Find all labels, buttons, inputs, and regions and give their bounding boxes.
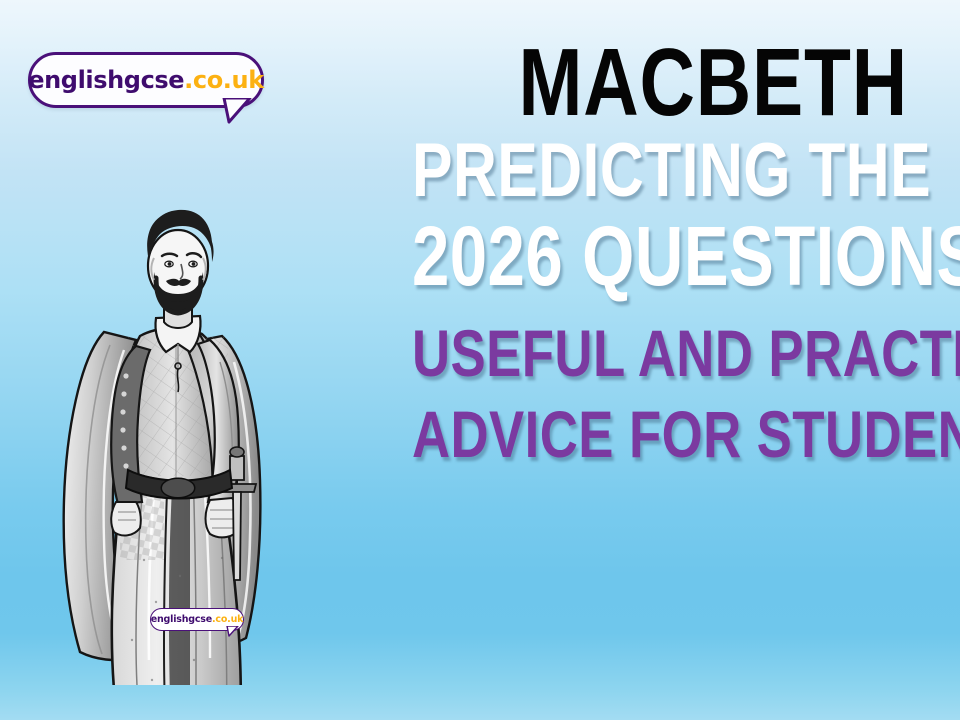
title-subline-year: 2026 QUESTIONS [412,215,908,297]
slide-canvas: englishgcse.co.uk englishgcse.co.uk MACB… [0,0,960,720]
logo-watermark-tld: .co.uk [212,614,243,625]
title-tagline-advice: ADVICE FOR STUDENTS [412,402,908,467]
logo-primary-tld: .co.uk [184,66,264,94]
logo-watermark-tail-icon [226,626,239,637]
title-tagline-useful: USEFUL AND PRACTICAL [412,321,908,386]
logo-primary-text: englishgcse.co.uk [28,68,264,92]
logo-watermark-name: englishgcse [151,614,212,625]
logo-primary-name: englishgcse [28,66,184,94]
title-block: MACBETH PREDICTING THE 2026 QUESTIONS US… [288,36,908,466]
logo-watermark-text: englishgcse.co.uk [151,615,244,625]
title-subline-predicting: PREDICTING THE [412,134,908,208]
macbeth-illustration [44,140,294,685]
logo-primary[interactable]: englishgcse.co.uk [28,52,264,108]
logo-primary-tail-icon [222,98,252,124]
logo-watermark: englishgcse.co.uk [150,608,244,631]
title-play-name: MACBETH [412,36,908,130]
